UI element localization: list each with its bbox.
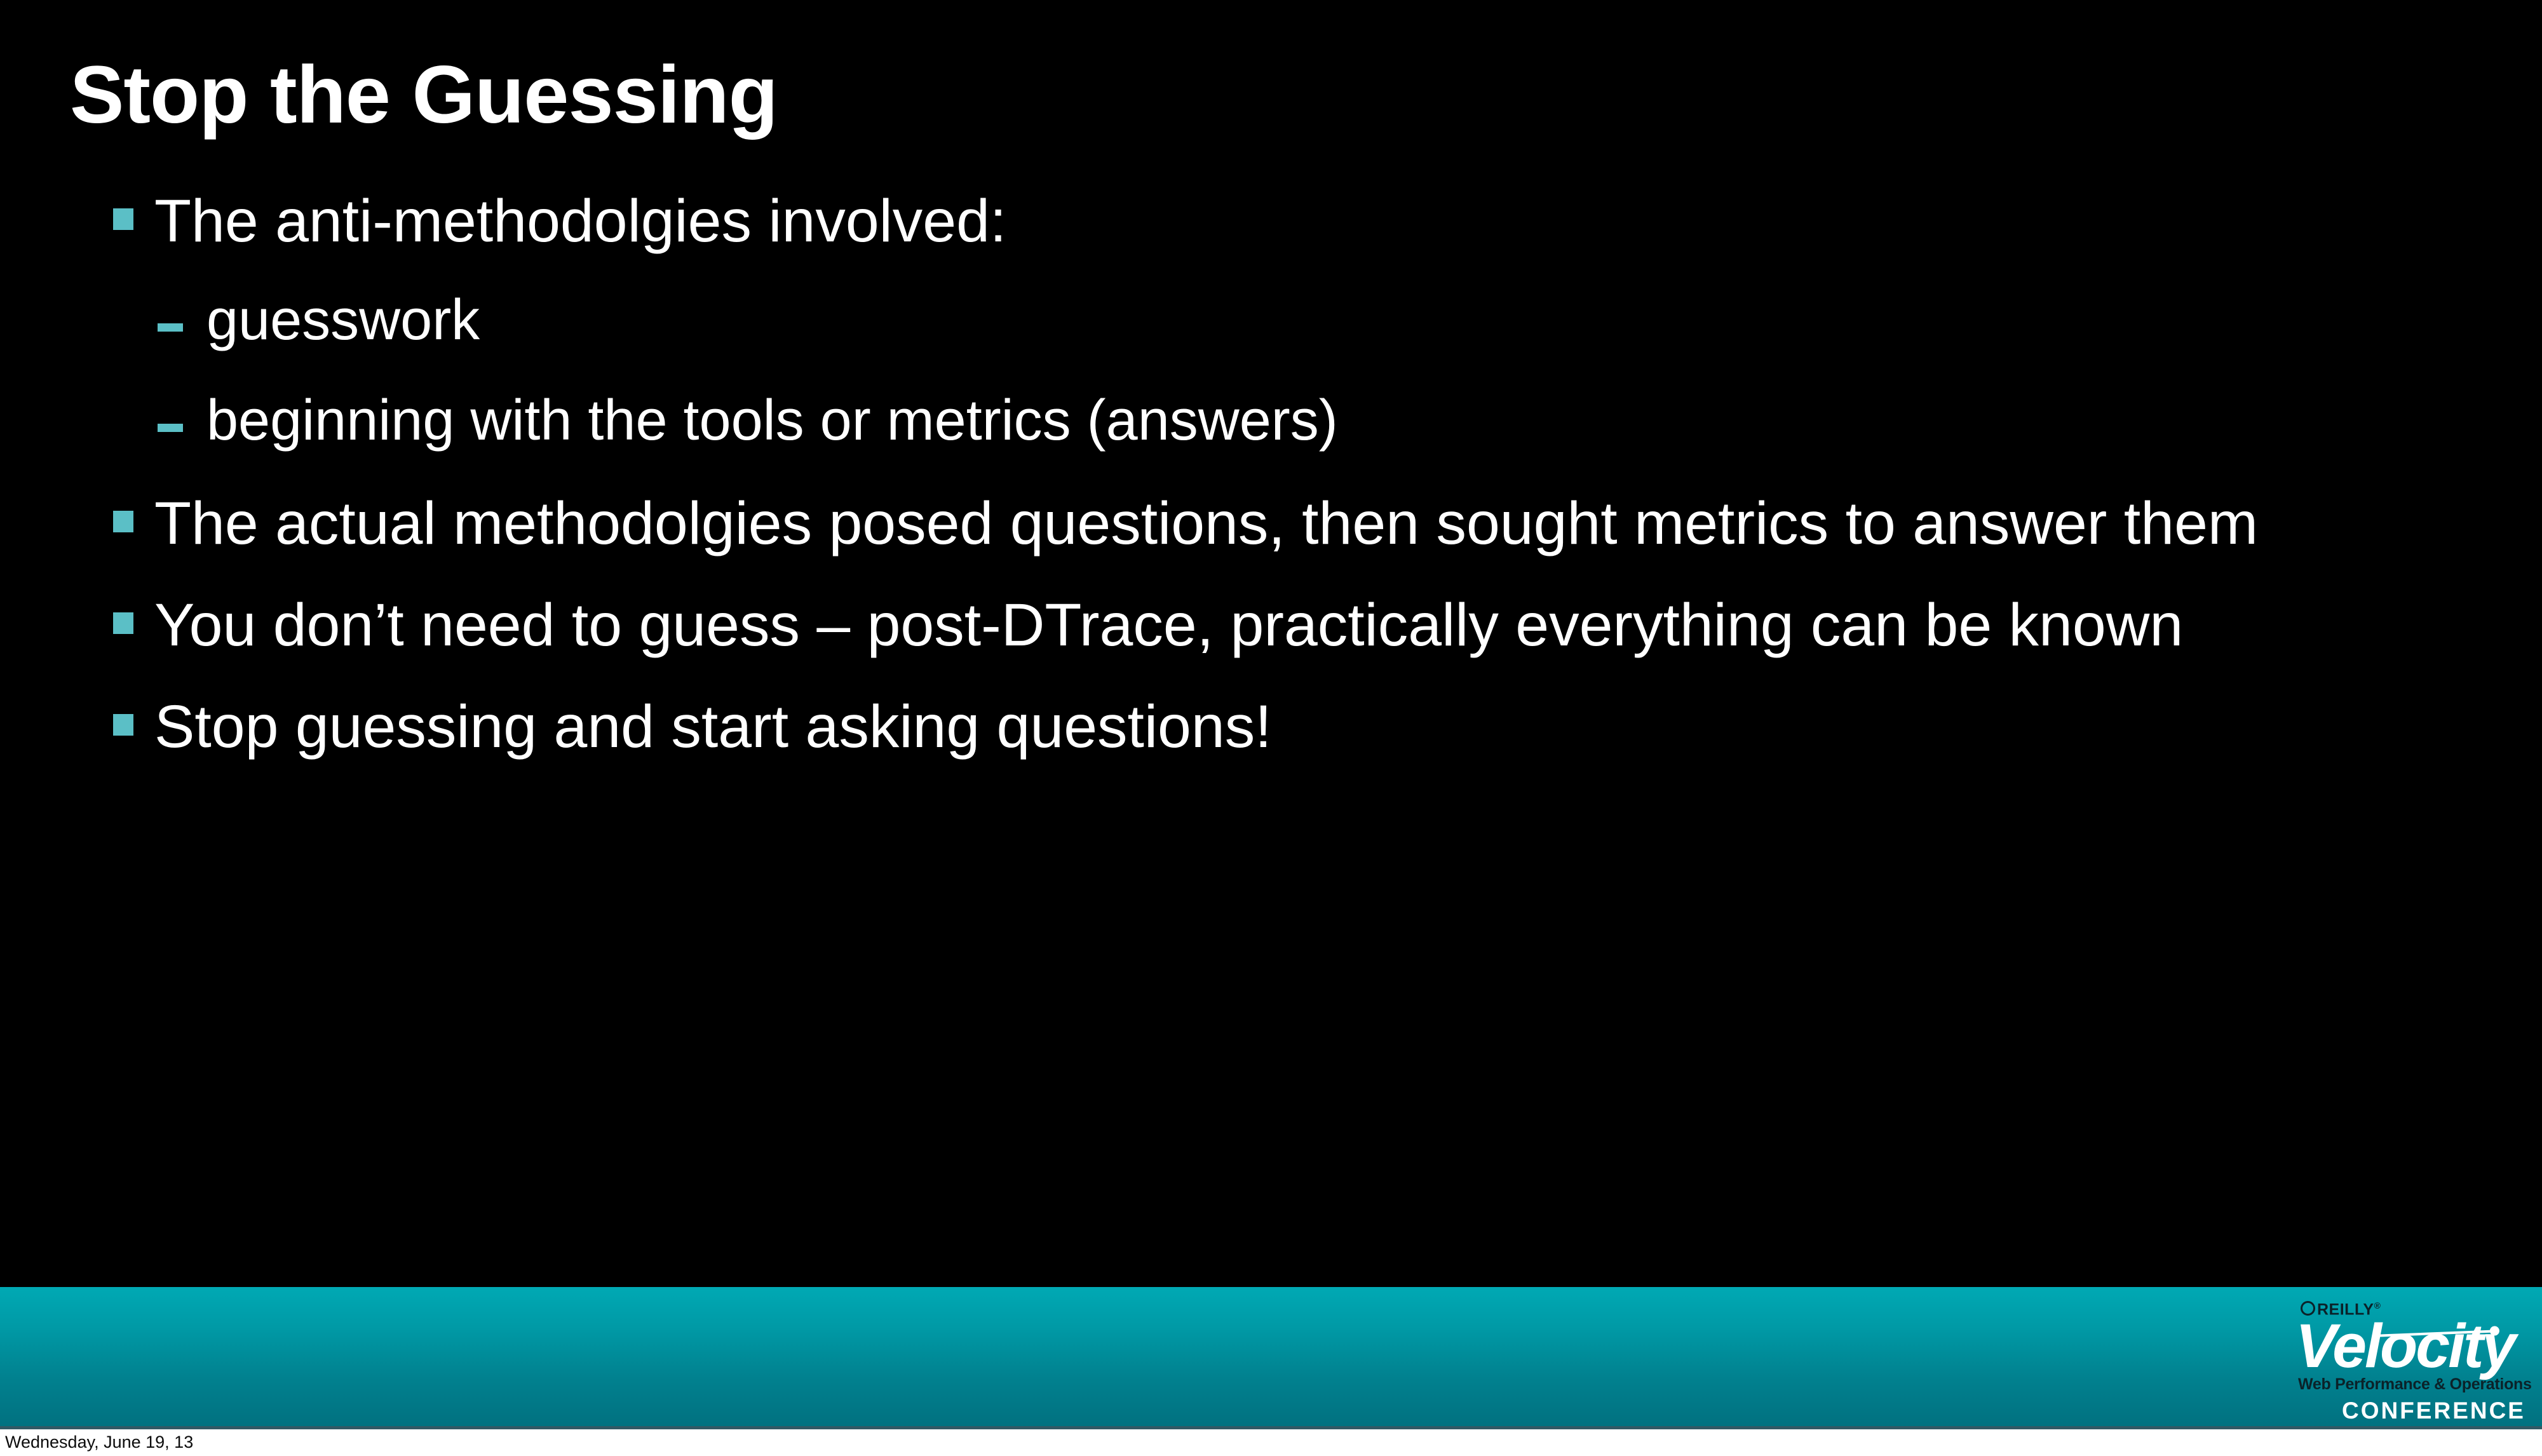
- slide-content-area: Stop the Guessing The anti-methodolgies …: [0, 0, 2542, 1287]
- velocity-conference-logo: REILLY® Velocity Web Performance & Opera…: [2283, 1297, 2531, 1424]
- list-item-label: The actual methodolgies posed questions,…: [154, 477, 2258, 570]
- presentation-slide: Stop the Guessing The anti-methodolgies …: [0, 0, 2542, 1456]
- footer-timestamp: Wednesday, June 19, 13: [5, 1433, 193, 1452]
- list-item: The actual methodolgies posed questions,…: [0, 477, 2542, 579]
- list-item-label: You don’t need to guess – post-DTrace, p…: [154, 579, 2183, 672]
- velocity-wordmark: Velocity: [2295, 1315, 2514, 1377]
- list-item: beginning with the tools or metrics (ans…: [0, 377, 2542, 477]
- list-item: The anti-methodolgies involved:: [0, 175, 2542, 276]
- list-item: You don’t need to guess – post-DTrace, p…: [0, 579, 2542, 680]
- registered-trademark-icon: ®: [2374, 1300, 2381, 1311]
- list-item-label: guesswork: [206, 276, 480, 365]
- list-item-label: The anti-methodolgies involved:: [154, 175, 1006, 268]
- bullet-square-icon: [113, 208, 133, 230]
- list-item-label: beginning with the tools or metrics (ans…: [206, 377, 1338, 466]
- bullet-square-icon: [113, 511, 133, 532]
- bullet-square-icon: [113, 714, 133, 736]
- slide-footer-band: REILLY® Velocity Web Performance & Opera…: [0, 1287, 2542, 1429]
- bullet-list: The anti-methodolgies involved: guesswor…: [0, 175, 2542, 782]
- velocity-tagline: Web Performance & Operations: [2298, 1377, 2532, 1392]
- list-item: guesswork: [0, 276, 2542, 377]
- bullet-dash-icon: [158, 424, 183, 432]
- bullet-dash-icon: [158, 323, 183, 332]
- bullet-square-icon: [113, 612, 133, 634]
- list-item-label: Stop guessing and start asking questions…: [154, 680, 1272, 774]
- document-footer: Wednesday, June 19, 13: [0, 1429, 2542, 1456]
- velocity-event-type: CONFERENCE: [2342, 1399, 2525, 1422]
- list-item: Stop guessing and start asking questions…: [0, 680, 2542, 782]
- page-title: Stop the Guessing: [70, 50, 778, 140]
